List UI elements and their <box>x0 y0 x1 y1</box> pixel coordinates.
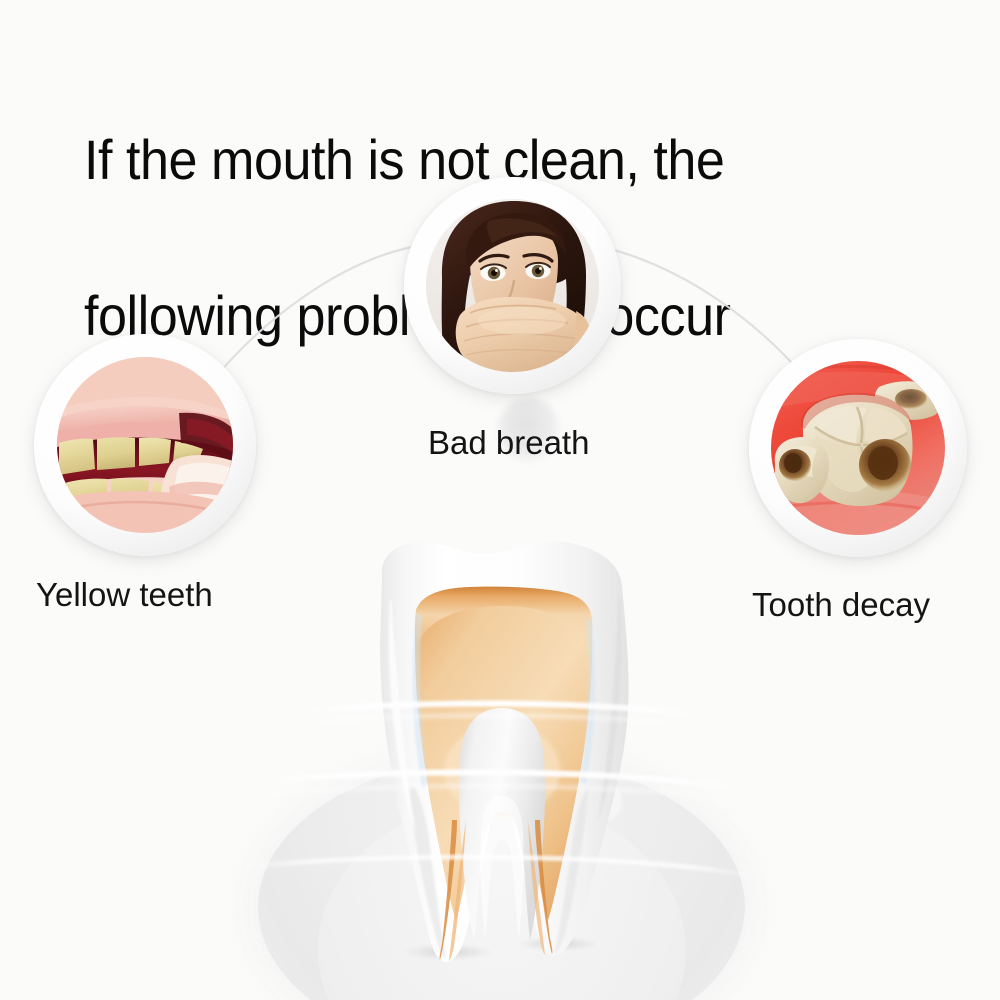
decayed-molars-icon <box>771 361 945 535</box>
label-tooth-decay: Tooth decay <box>752 586 930 624</box>
bad-breath-photo <box>426 199 599 372</box>
tooth-decay-photo <box>771 361 945 535</box>
tooth-svg-icon <box>330 520 675 1000</box>
problem-bubble-bad-breath[interactable] <box>404 177 621 394</box>
yellow-teeth-icon <box>57 357 233 533</box>
connector-right-icon <box>614 250 800 372</box>
yellow-teeth-photo <box>57 357 233 533</box>
tooth-cross-section-illustration <box>330 520 675 1000</box>
connector-left-icon <box>205 247 412 390</box>
poster-canvas: If the mouth is not clean, the following… <box>0 0 1000 1000</box>
problem-bubble-yellow-teeth[interactable] <box>34 334 256 556</box>
woman-covering-mouth-icon <box>426 199 599 372</box>
label-yellow-teeth: Yellow teeth <box>36 576 213 614</box>
label-bad-breath: Bad breath <box>428 424 589 462</box>
problem-bubble-tooth-decay[interactable] <box>749 339 967 557</box>
